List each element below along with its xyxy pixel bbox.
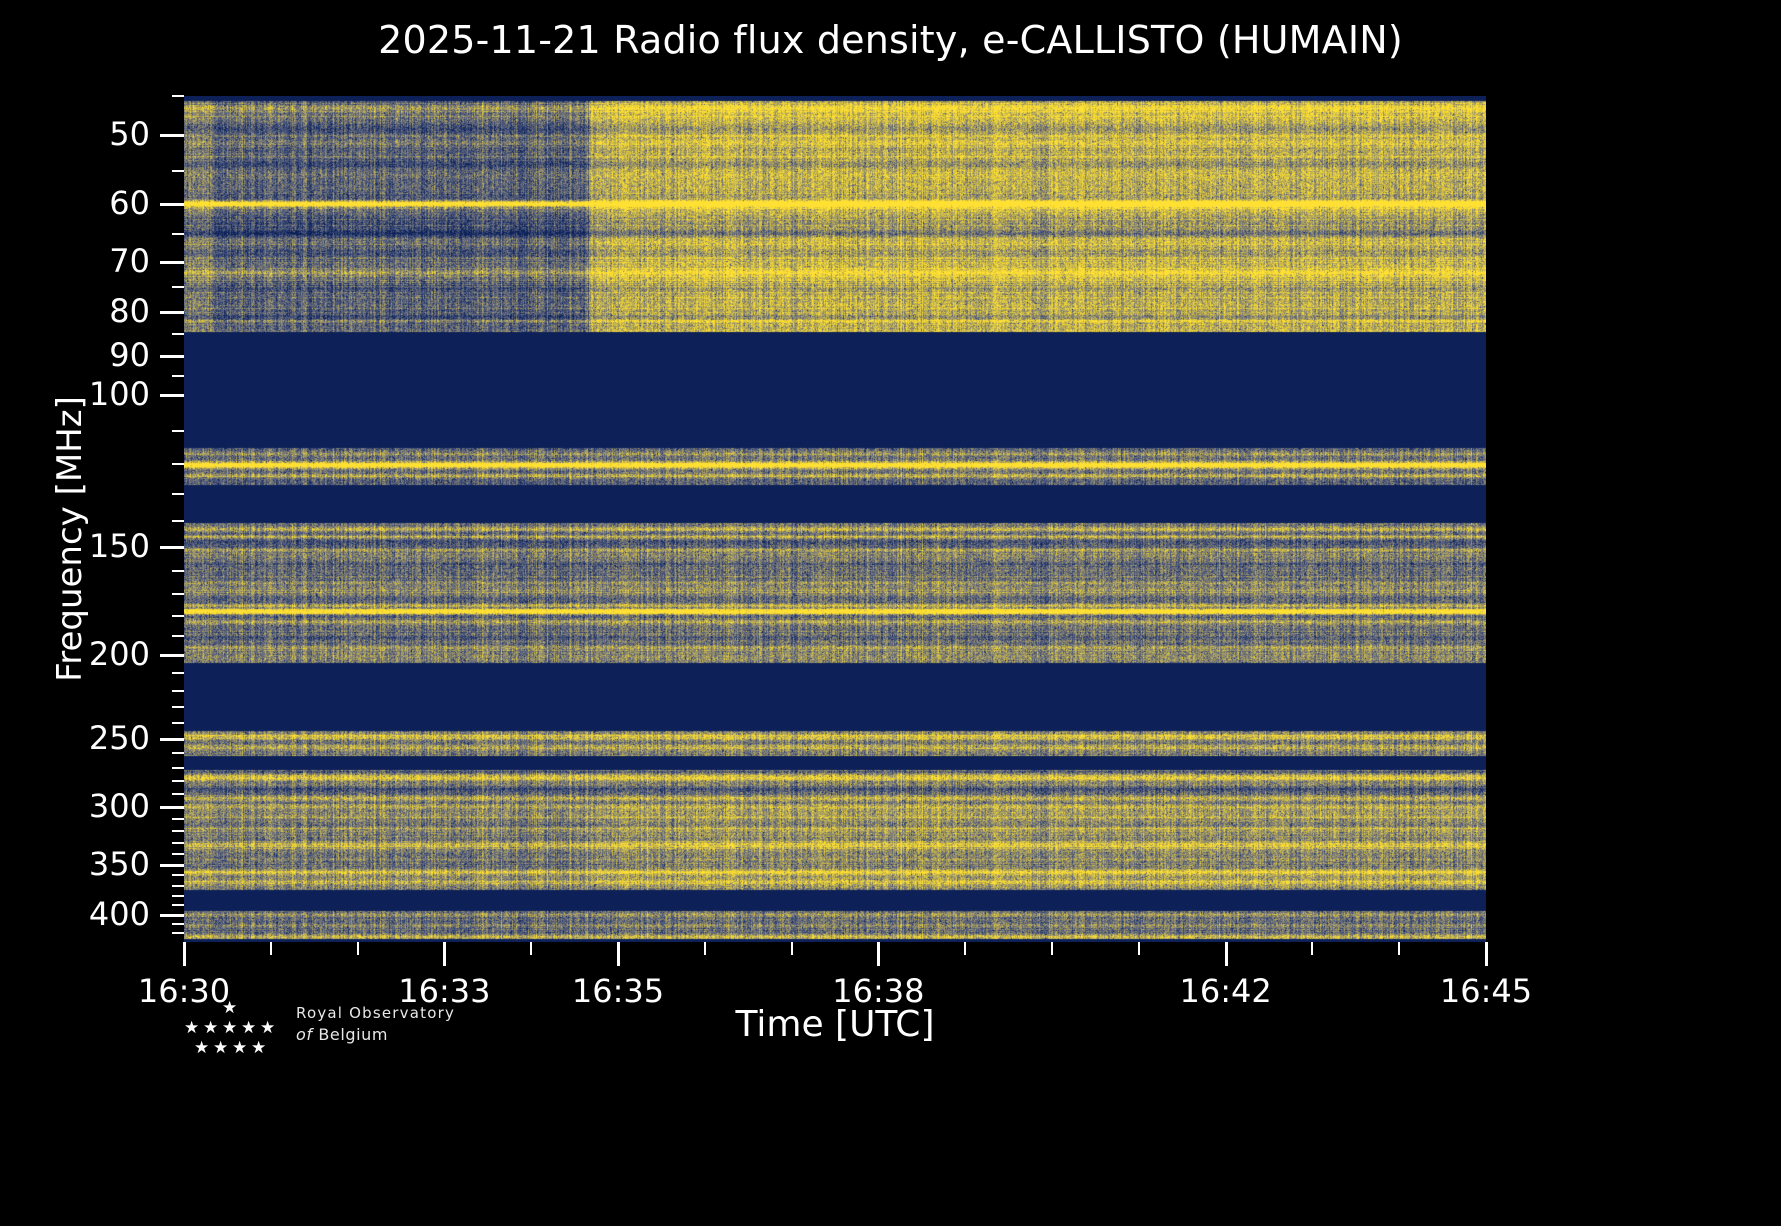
y-minor-tick-95 (172, 375, 184, 377)
y-tick-400 (160, 914, 184, 917)
y-minor-tick-290 (172, 793, 184, 795)
x-tick-16-35 (617, 942, 620, 966)
y-minor-tick-85 (172, 333, 184, 335)
x-tick-16-38 (877, 942, 880, 966)
y-tick-90 (160, 355, 184, 358)
x-minor-tick-6 (704, 942, 706, 955)
chart-title: 2025-11-21 Radio flux density, e-CALLIST… (0, 18, 1781, 62)
y-tick-70 (160, 261, 184, 264)
y-minor-tick-340 (172, 853, 184, 855)
y-tick-150 (160, 546, 184, 549)
y-minor-tick-210 (172, 672, 184, 674)
y-tick-label-50: 50 (0, 118, 150, 150)
x-minor-tick-14 (1398, 942, 1400, 955)
y-minor-tick-140 (172, 520, 184, 522)
y-minor-tick-360 (172, 874, 184, 876)
x-tick-16-45 (1485, 942, 1488, 966)
y-tick-label-300: 300 (0, 790, 150, 822)
y-minor-tick-390 (172, 904, 184, 906)
y-minor-tick-220 (172, 690, 184, 692)
y-tick-300 (160, 806, 184, 809)
y-minor-tick-120 (172, 463, 184, 465)
x-tick-16-42 (1225, 942, 1228, 966)
y-tick-label-70: 70 (0, 245, 150, 277)
y-minor-tick-45 (172, 95, 184, 97)
spectrogram-plot-area (184, 96, 1486, 942)
y-minor-tick-130 (172, 493, 184, 495)
x-minor-tick-13 (1311, 942, 1313, 955)
y-tick-80 (160, 311, 184, 314)
y-minor-tick-170 (172, 593, 184, 595)
x-tick-16-33 (443, 942, 446, 966)
y-minor-tick-380 (172, 895, 184, 897)
y-minor-tick-160 (172, 570, 184, 572)
logo-star-icon-1-0: ★ (184, 1020, 199, 1037)
y-minor-tick-240 (172, 722, 184, 724)
y-minor-tick-330 (172, 842, 184, 844)
x-minor-tick-7 (791, 942, 793, 955)
logo-line-2: of Belgium (296, 1025, 596, 1044)
y-tick-350 (160, 864, 184, 867)
y-minor-tick-190 (172, 635, 184, 637)
logo-line-1: Royal Observatory (296, 1004, 596, 1022)
figure-root: 2025-11-21 Radio flux density, e-CALLIST… (0, 0, 1781, 1226)
y-tick-label-60: 60 (0, 187, 150, 219)
y-axis-title: Frequency [MHz] (50, 299, 90, 779)
y-tick-label-400: 400 (0, 898, 150, 930)
y-minor-tick-55 (172, 170, 184, 172)
y-minor-tick-260 (172, 752, 184, 754)
logo-star-icon-1-4: ★ (260, 1020, 275, 1037)
y-minor-tick-110 (172, 430, 184, 432)
y-tick-60 (160, 203, 184, 206)
y-tick-50 (160, 134, 184, 137)
x-minor-tick-9 (964, 942, 966, 955)
logo-star-icon-2-1: ★ (213, 1040, 228, 1057)
x-minor-tick-11 (1138, 942, 1140, 955)
y-minor-tick-320 (172, 830, 184, 832)
logo-star-icon-1-1: ★ (203, 1020, 218, 1037)
logo-text: Royal Observatory of Belgium (296, 1004, 596, 1044)
y-minor-tick-65 (172, 233, 184, 235)
y-tick-250 (160, 738, 184, 741)
y-minor-tick-420 (172, 932, 184, 934)
y-tick-label-350: 350 (0, 848, 150, 880)
y-minor-tick-280 (172, 780, 184, 782)
y-minor-tick-410 (172, 923, 184, 925)
y-tick-100 (160, 394, 184, 397)
x-minor-tick-2 (357, 942, 359, 955)
x-tick-16-30 (183, 942, 186, 966)
logo-star-icon-0-0: ★ (222, 1000, 237, 1017)
y-minor-tick-230 (172, 706, 184, 708)
logo-star-icon-1-3: ★ (241, 1020, 256, 1037)
logo-of-word: of (296, 1025, 313, 1044)
y-tick-200 (160, 654, 184, 657)
x-minor-tick-4 (530, 942, 532, 955)
logo-star-icon-2-3: ★ (251, 1040, 266, 1057)
logo-star-icon-2-2: ★ (232, 1040, 247, 1057)
x-minor-tick-1 (270, 942, 272, 955)
y-minor-tick-370 (172, 885, 184, 887)
y-minor-tick-270 (172, 767, 184, 769)
y-minor-tick-180 (172, 615, 184, 617)
y-minor-tick-310 (172, 818, 184, 820)
logo-stars: ★★★★★★★★★★ (176, 1000, 286, 1062)
logo-star-icon-2-0: ★ (194, 1040, 209, 1057)
royal-observatory-logo: ★★★★★★★★★★ Royal Observatory of Belgium (176, 1000, 596, 1070)
y-minor-tick-75 (172, 286, 184, 288)
logo-star-icon-1-2: ★ (222, 1020, 237, 1037)
x-minor-tick-10 (1051, 942, 1053, 955)
logo-belgium-word: Belgium (318, 1025, 388, 1044)
spectrogram-canvas (184, 96, 1486, 942)
